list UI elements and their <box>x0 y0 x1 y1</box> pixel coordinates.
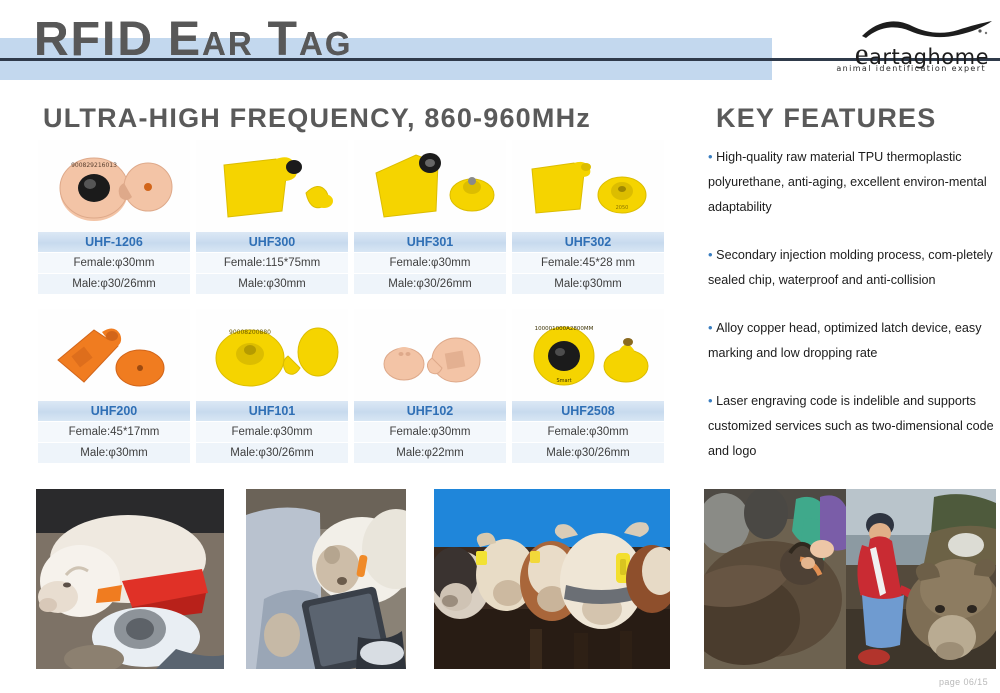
bullet-icon: • <box>708 393 716 408</box>
svg-text:2050: 2050 <box>616 205 629 211</box>
key-feature-text: Secondary injection molding process, com… <box>708 248 993 287</box>
key-features-list: • High-quality raw material TPU thermopl… <box>708 144 998 486</box>
photo-yak-ear-tagging-field-work <box>704 489 996 669</box>
key-feature-item: • High-quality raw material TPU thermopl… <box>708 144 998 220</box>
bullet-icon: • <box>708 320 716 335</box>
product-spec-female: Female:45*17mm <box>38 422 190 443</box>
product-card-uhf-1206[interactable]: 900829216013 UHF-1206Female:φ30mmMale:φ3… <box>38 140 190 295</box>
key-feature-item: • Secondary injection molding process, c… <box>708 242 998 293</box>
product-spec-male: Male:φ30mm <box>196 274 348 295</box>
product-row: UHF200Female:45*17mmMale:φ30mm 900082008… <box>38 309 670 464</box>
product-spec-male: Male:φ30/26mm <box>512 443 664 464</box>
page-title-tag-rest: AG <box>299 25 353 62</box>
slide-page: RFIDEARTAG eartaghome animal identificat… <box>0 0 1000 693</box>
product-spec-male: Male:φ30/26mm <box>196 443 348 464</box>
product-name: UHF102 <box>354 401 506 422</box>
key-feature-item: • Laser engraving code is indelible and … <box>708 388 998 464</box>
page-title: RFIDEARTAG <box>34 12 353 67</box>
svg-text:90008200880: 90008200880 <box>229 329 271 336</box>
product-spec-female: Female:45*28 mm <box>512 253 664 274</box>
product-photo-pink-small-round-tag <box>354 309 506 401</box>
product-photo-yellow-round-tag: 90008200880 <box>196 309 348 401</box>
photo-cattle-herd-with-yellow-ear-tags <box>434 489 670 669</box>
page-title-main: RFID <box>34 13 154 66</box>
page-title-ear-rest: AR <box>202 25 254 62</box>
bullet-icon: • <box>708 247 716 262</box>
product-spec-female: Female:115*75mm <box>196 253 348 274</box>
product-spec-female: Female:φ30mm <box>38 253 190 274</box>
page-number: page 06/15 <box>939 677 988 687</box>
product-spec-male: Male:φ22mm <box>354 443 506 464</box>
product-card-uhf301[interactable]: UHF301Female:φ30mmMale:φ30/26mm <box>354 140 506 295</box>
product-photo-yellow-small-flag-tag: 2050 <box>512 140 664 232</box>
product-card-uhf300[interactable]: UHF300Female:115*75mmMale:φ30mm <box>196 140 348 295</box>
product-card-uhf200[interactable]: UHF200Female:45*17mmMale:φ30mm <box>38 309 190 464</box>
key-features-heading: KEY FEATURES <box>716 103 936 134</box>
product-name: UHF101 <box>196 401 348 422</box>
product-card-uhf302[interactable]: 2050 UHF302Female:45*28 mmMale:φ30mm <box>512 140 664 295</box>
product-name: UHF-1206 <box>38 232 190 253</box>
application-photo-strip <box>36 489 996 669</box>
key-feature-item: • Alloy copper head, optimized latch dev… <box>708 315 998 366</box>
product-photo-yellow-flag-tag <box>196 140 348 232</box>
product-spec-male: Male:φ30mm <box>38 443 190 464</box>
page-title-ear-cap: E <box>168 13 202 66</box>
product-photo-orange-rect-tag <box>38 309 190 401</box>
key-feature-text: Alloy copper head, optimized latch devic… <box>708 321 982 360</box>
logo-tagline: animal identification expert <box>836 64 986 73</box>
product-spec-female: Female:φ30mm <box>196 422 348 443</box>
frequency-heading: ULTRA-HIGH FREQUENCY, 860-960MHz <box>43 103 591 134</box>
svg-text:Smart: Smart <box>556 378 571 384</box>
product-spec-female: Female:φ30mm <box>354 253 506 274</box>
product-name: UHF2508 <box>512 401 664 422</box>
product-photo-yellow-round-black-button-tag: 100001000A2800MM Smart <box>512 309 664 401</box>
product-spec-male: Male:φ30/26mm <box>38 274 190 295</box>
brand-logo: eartaghome animal identification expert <box>834 14 994 76</box>
product-spec-male: Male:φ30/26mm <box>354 274 506 295</box>
product-name: UHF300 <box>196 232 348 253</box>
page-title-tag-cap: T <box>268 13 299 66</box>
product-photo-round-pink-tag: 900829216013 <box>38 140 190 232</box>
photo-sheep-ear-tagging-with-applicator <box>36 489 224 669</box>
svg-text:100001000A2800MM: 100001000A2800MM <box>535 326 594 332</box>
product-photo-yellow-flag-tag-black-button <box>354 140 506 232</box>
photo-sheep-tag-scanning-with-handheld-reader <box>246 489 406 669</box>
product-name: UHF302 <box>512 232 664 253</box>
key-feature-text: Laser engraving code is indelible and su… <box>708 394 994 458</box>
product-spec-female: Female:φ30mm <box>512 422 664 443</box>
product-name: UHF200 <box>38 401 190 422</box>
product-spec-female: Female:φ30mm <box>354 422 506 443</box>
product-card-uhf2508[interactable]: 100001000A2800MM Smart UHF2508Female:φ30… <box>512 309 664 464</box>
product-card-uhf101[interactable]: 90008200880 UHF101Female:φ30mmMale:φ30/2… <box>196 309 348 464</box>
product-name: UHF301 <box>354 232 506 253</box>
product-row: 900829216013 UHF-1206Female:φ30mmMale:φ3… <box>38 140 670 295</box>
product-card-uhf102[interactable]: UHF102Female:φ30mmMale:φ22mm <box>354 309 506 464</box>
key-feature-text: High-quality raw material TPU thermoplas… <box>708 150 987 214</box>
product-spec-male: Male:φ30mm <box>512 274 664 295</box>
bullet-icon: • <box>708 149 716 164</box>
svg-text:900829216013: 900829216013 <box>71 162 117 169</box>
product-grid: 900829216013 UHF-1206Female:φ30mmMale:φ3… <box>38 140 670 478</box>
